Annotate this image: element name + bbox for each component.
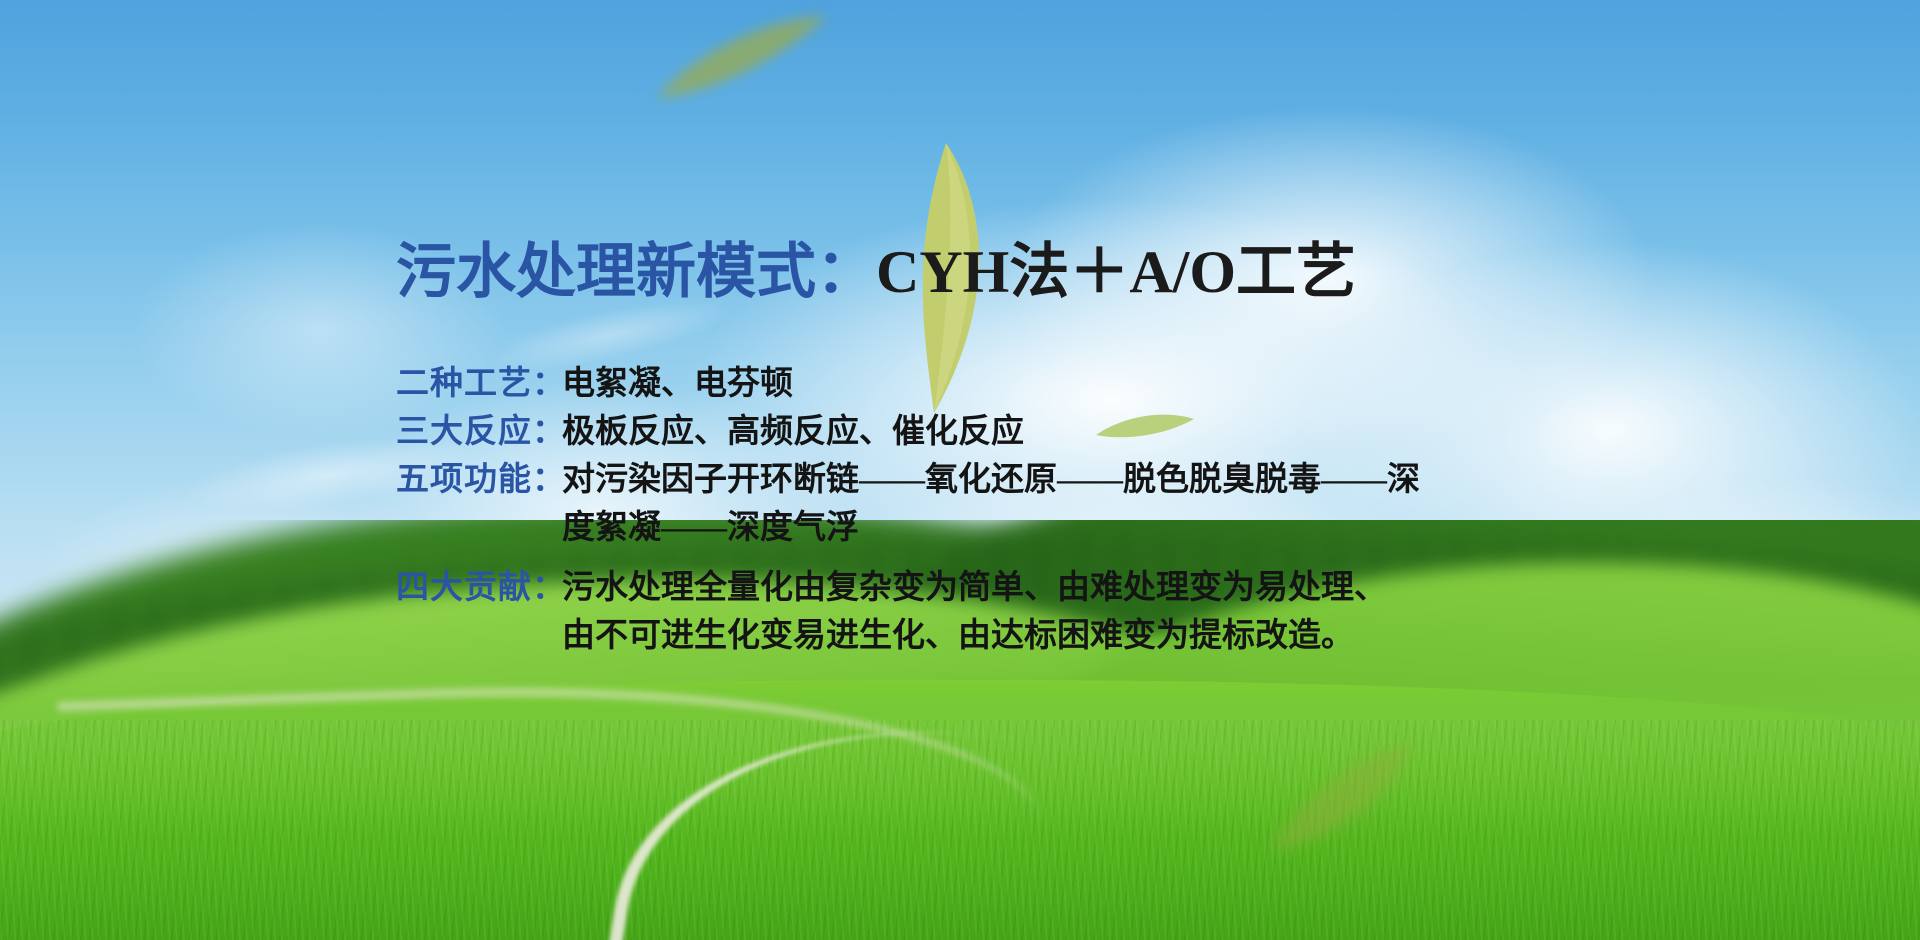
- title-rest: CYH法＋A/O工艺: [876, 239, 1356, 305]
- bullet-line: 度絮凝——深度气浮: [562, 504, 1420, 552]
- bullet-label: 五项功能：: [396, 456, 562, 504]
- title-highlight: 污水处理新模式：: [396, 239, 876, 305]
- slide-canvas: 污水处理新模式：CYH法＋A/O工艺 二种工艺： 电絮凝、电芬顿 三大反应： 极…: [0, 0, 1920, 940]
- bullet-label: 二种工艺：: [396, 360, 562, 408]
- list-spacer: [396, 552, 1420, 564]
- bullet-line: 极板反应、高频反应、催化反应: [562, 408, 1024, 456]
- bullet-list: 二种工艺： 电絮凝、电芬顿 三大反应： 极板反应、高频反应、催化反应 五项功能：…: [396, 360, 1420, 660]
- bullet-text: 对污染因子开环断链——氧化还原——脱色脱臭脱毒——深 度絮凝——深度气浮: [562, 456, 1420, 552]
- bullet-line: 对污染因子开环断链——氧化还原——脱色脱臭脱毒——深: [562, 456, 1420, 504]
- bullet-line: 污水处理全量化由复杂变为简单、由难处理变为易处理、: [562, 564, 1387, 612]
- bullet-line: 电絮凝、电芬顿: [562, 360, 793, 408]
- list-item: 三大反应： 极板反应、高频反应、催化反应: [396, 408, 1420, 456]
- list-item: 五项功能： 对污染因子开环断链——氧化还原——脱色脱臭脱毒——深 度絮凝——深度…: [396, 456, 1420, 552]
- bullet-line: 由不可进生化变易进生化、由达标困难变为提标改造。: [562, 612, 1387, 660]
- bullet-text: 污水处理全量化由复杂变为简单、由难处理变为易处理、 由不可进生化变易进生化、由达…: [562, 564, 1387, 660]
- bullet-text: 电絮凝、电芬顿: [562, 360, 793, 408]
- list-item: 四大贡献： 污水处理全量化由复杂变为简单、由难处理变为易处理、 由不可进生化变易…: [396, 564, 1420, 660]
- bullet-label: 三大反应：: [396, 408, 562, 456]
- bullet-label: 四大贡献：: [396, 564, 562, 612]
- page-title: 污水处理新模式：CYH法＋A/O工艺: [396, 240, 1356, 305]
- slide-content: 污水处理新模式：CYH法＋A/O工艺 二种工艺： 电絮凝、电芬顿 三大反应： 极…: [0, 0, 1920, 940]
- bullet-text: 极板反应、高频反应、催化反应: [562, 408, 1024, 456]
- list-item: 二种工艺： 电絮凝、电芬顿: [396, 360, 1420, 408]
